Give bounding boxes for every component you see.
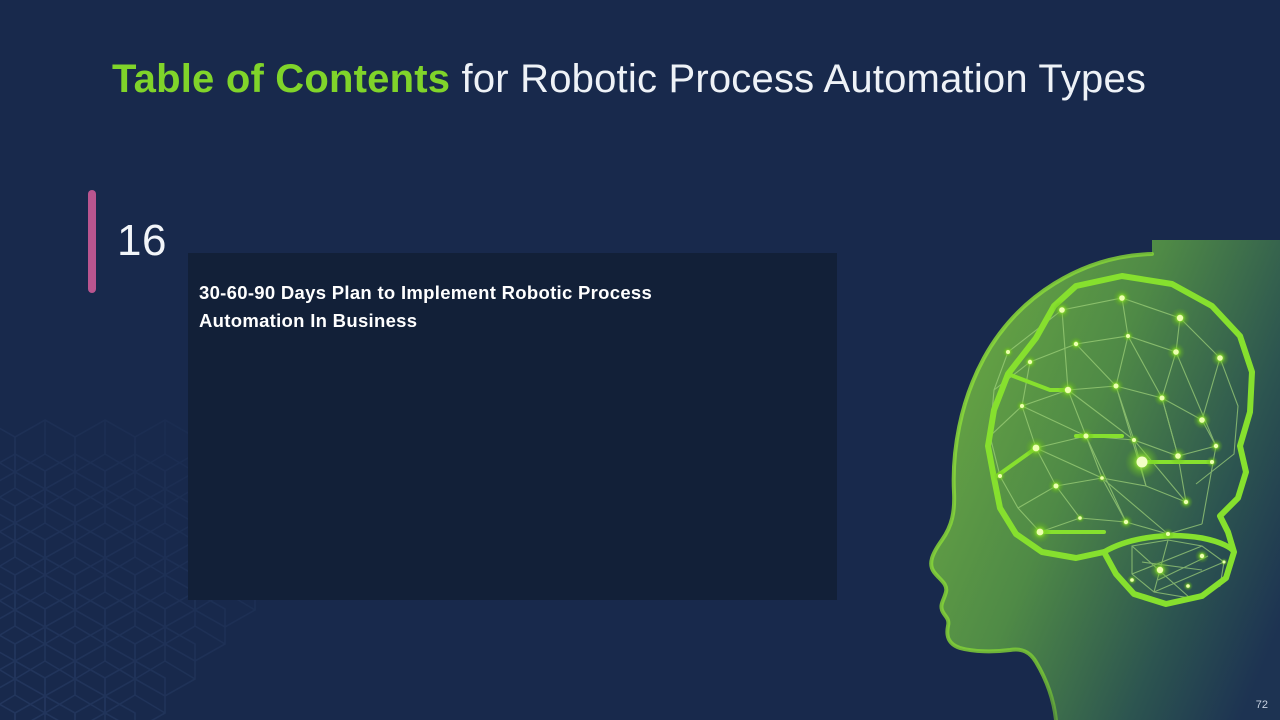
head-with-neural-network-brain-icon	[890, 240, 1280, 720]
page-title: Table of Contents for Robotic Process Au…	[112, 54, 1146, 104]
slide-canvas: Table of Contents for Robotic Process Au…	[0, 0, 1280, 720]
item-number: 16	[117, 215, 167, 267]
page-title-rest: for Robotic Process Automation Types	[450, 57, 1146, 101]
page-title-accent: Table of Contents	[112, 57, 450, 101]
accent-bar	[88, 190, 96, 293]
content-panel[interactable]: 30-60-90 Days Plan to Implement Robotic …	[188, 253, 837, 600]
page-number: 72	[1256, 698, 1268, 712]
content-item-text: 30-60-90 Days Plan to Implement Robotic …	[199, 279, 719, 335]
